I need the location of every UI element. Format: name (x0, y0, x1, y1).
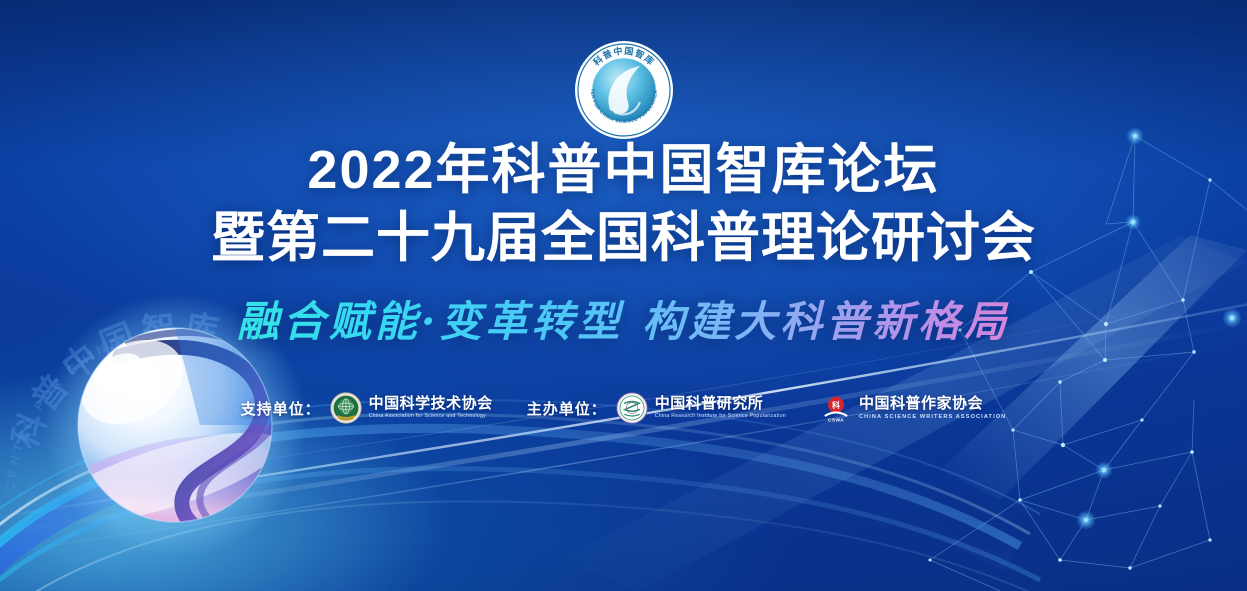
title-line-1: 2022年科普中国智库论坛 (0, 140, 1247, 202)
title-line-2: 暨第二十九届全国科普理论研讨会 (0, 208, 1247, 270)
crisp-name-cn: 中国科普研究所 (655, 395, 786, 412)
cast-globe-logo (330, 392, 362, 424)
cswa-names: 中国科普作家协会 CHINA SCIENCE WRITERS ASSOCIATI… (859, 395, 1006, 422)
cswa-name-cn: 中国科普作家协会 (859, 395, 1006, 412)
cast-names: 中国科学技术协会 China Association for Science a… (369, 395, 493, 421)
cswa-logo: 科 CSWA (820, 392, 852, 424)
crisp-names: 中国科普研究所 China Research Institute for Sci… (655, 395, 786, 421)
conference-banner: 科普中国智库 CENTER FOR CHINA (0, 0, 1247, 591)
cast-name-en: China Association for Science and Techno… (369, 413, 493, 421)
sponsor-group-organizer: 主办单位： 中国科普研究所 China Research Institute f… (527, 392, 786, 424)
crisp-lockup: 中国科普研究所 China Research Institute for Sci… (616, 392, 786, 424)
support-unit-label: 支持单位： (241, 398, 321, 419)
crisp-circle-logo (616, 392, 648, 424)
cast-name-cn: 中国科学技术协会 (369, 395, 493, 412)
sponsor-group-support: 支持单位： 中国科学技术协会 China Association for Sci… (241, 392, 493, 424)
svg-text:CSWA: CSWA (828, 418, 844, 424)
svg-text:科: 科 (832, 400, 840, 410)
cast-lockup: 中国科学技术协会 China Association for Science a… (330, 392, 493, 424)
organizer-unit-label: 主办单位： (527, 398, 607, 419)
sponsor-group-cswa: 科 CSWA 中国科普作家协会 CHINA SCIENCE WRITERS AS… (820, 392, 1006, 424)
kepu-china-think-tank-emblem: 科普中国智库 CENTER FOR CHINA SCIENCE POPULARI… (574, 40, 674, 140)
slogan-text: 融合赋能·变革转型 构建大科普新格局 (0, 288, 1247, 349)
crisp-name-en: China Research Institute for Science Pop… (655, 413, 786, 421)
sponsor-row: 支持单位： 中国科学技术协会 China Association for Sci… (0, 392, 1247, 424)
cswa-lockup: 科 CSWA 中国科普作家协会 CHINA SCIENCE WRITERS AS… (820, 392, 1006, 424)
title-block: 2022年科普中国智库论坛 暨第二十九届全国科普理论研讨会 (0, 140, 1247, 269)
cswa-name-en: CHINA SCIENCE WRITERS ASSOCIATION (859, 413, 1006, 422)
